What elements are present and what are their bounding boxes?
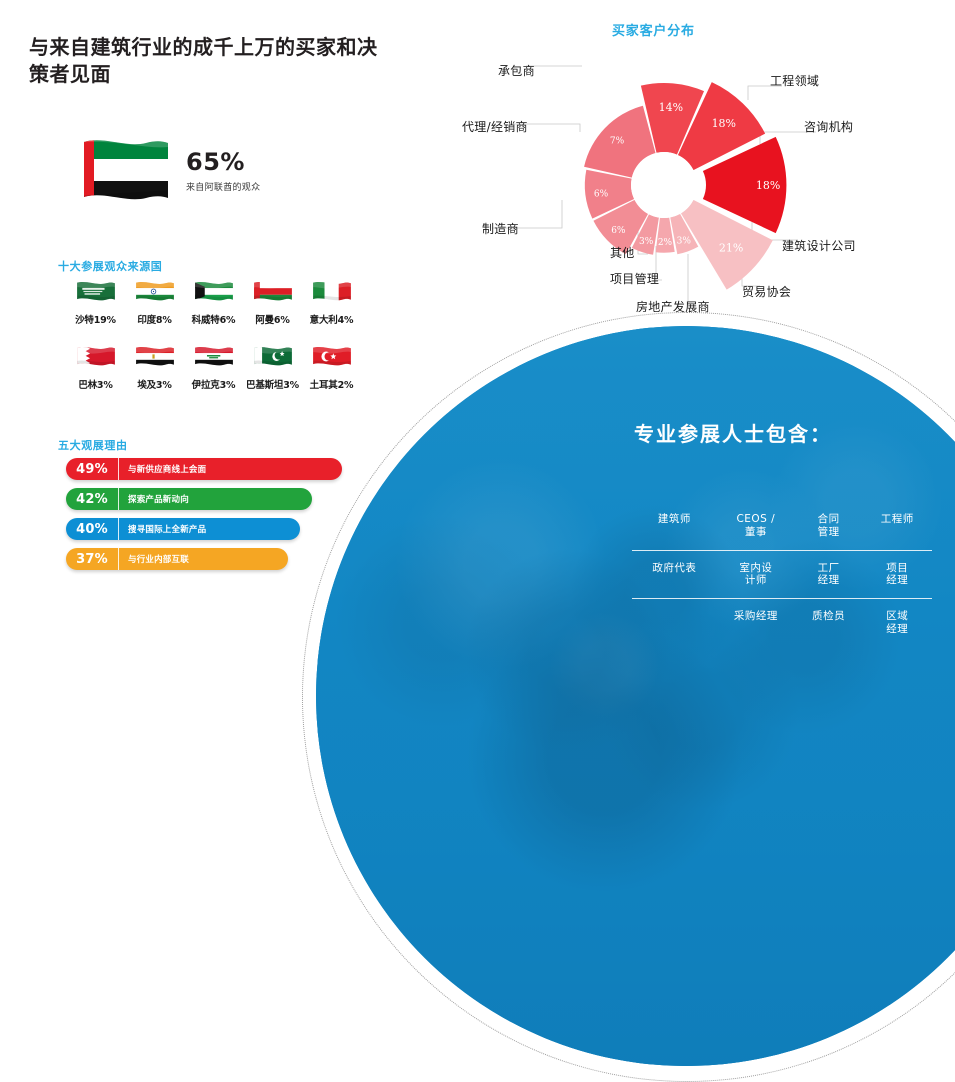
- rose-slice-value: 3%: [639, 237, 654, 247]
- buyer-distribution-chart: 14%18%18%21%3%2%3%6%6%7% 承包商代理/经销商制造商其他项…: [430, 40, 955, 330]
- role-cell: 质检员: [795, 599, 863, 647]
- country-label: 意大利4%: [302, 312, 361, 326]
- role-cell-empty: [632, 599, 717, 647]
- oman-flag-icon: [249, 275, 297, 308]
- country-item-伊拉克: 伊拉克3%: [184, 340, 243, 391]
- rose-slice-value: 3%: [677, 236, 692, 246]
- reasons-section-title: 五大观展理由: [58, 437, 128, 453]
- rose-label-contractor: 承包商: [498, 62, 535, 79]
- role-cell: 室内设计师: [717, 550, 795, 599]
- donut-hole: [631, 152, 697, 218]
- rose-slice-value: 21%: [719, 242, 743, 255]
- uae-percent: 65%: [186, 148, 245, 176]
- reason-label: 搜寻国际上全新产品: [119, 523, 206, 535]
- rose-label-manufacturer: 制造商: [482, 220, 519, 237]
- rose-slice-value: 2%: [658, 238, 673, 248]
- country-item-印度: 印度8%: [125, 275, 184, 326]
- rose-slice-value: 6%: [611, 226, 626, 236]
- bahrain-flag-icon: [72, 340, 120, 373]
- chart-title: 买家客户分布: [612, 20, 695, 39]
- role-cell: CEOS /董事: [717, 502, 795, 550]
- country-label: 阿曼6%: [243, 312, 302, 326]
- rose-label-engineering: 工程领域: [770, 72, 819, 89]
- reason-bar-3: 40%搜寻国际上全新产品: [66, 518, 300, 540]
- rose-slice-value: 14%: [659, 101, 683, 114]
- country-label: 印度8%: [125, 312, 184, 326]
- roles-row: 建筑师CEOS /董事合同管理工程师: [632, 502, 932, 550]
- rose-slice-value: 6%: [594, 190, 609, 200]
- country-item-巴基斯坦: 巴基斯坦3%: [243, 340, 302, 391]
- country-item-巴林: 巴林3%: [66, 340, 125, 391]
- pakistan-flag-icon: [249, 340, 297, 373]
- page-title: 与来自建筑行业的成千上万的买家和决策者见面: [29, 34, 379, 88]
- reason-bar-4: 37%与行业内部互联: [66, 548, 288, 570]
- reason-label: 探索产品新动向: [119, 493, 189, 505]
- role-cell: 政府代表: [632, 550, 717, 599]
- role-cell: 区域经理: [862, 599, 932, 647]
- italy-flag-icon: [308, 275, 356, 308]
- country-label: 科威特6%: [184, 312, 243, 326]
- role-cell: 工厂经理: [795, 550, 863, 599]
- country-item-意大利: 意大利4%: [302, 275, 361, 326]
- uae-caption: 来自阿联酋的观众: [186, 180, 260, 193]
- role-cell: 建筑师: [632, 502, 717, 550]
- rose-label-others: 其他: [610, 244, 635, 261]
- reasons-bar-chart: 49%与新供应商线上会面42%探索产品新动向40%搜寻国际上全新产品37%与行业…: [66, 458, 356, 578]
- egypt-flag-icon: [131, 340, 179, 373]
- rose-chart-svg: 14%18%18%21%3%2%3%6%6%7%: [430, 40, 955, 330]
- reason-label: 与新供应商线上会面: [119, 463, 206, 475]
- country-label: 巴林3%: [66, 377, 125, 391]
- reason-percent: 42%: [66, 492, 118, 507]
- uae-stat-block: 65% 来自阿联酋的观众: [70, 138, 340, 210]
- rose-slice-value: 18%: [712, 117, 736, 130]
- country-label: 沙特19%: [66, 312, 125, 326]
- country-item-科威特: 科威特6%: [184, 275, 243, 326]
- role-cell: 采购经理: [717, 599, 795, 647]
- role-cell: 合同管理: [795, 502, 863, 550]
- reason-percent: 40%: [66, 522, 118, 537]
- country-item-沙特: 沙特19%: [66, 275, 125, 326]
- country-label: 巴基斯坦3%: [243, 377, 302, 391]
- country-item-阿曼: 阿曼6%: [243, 275, 302, 326]
- rose-slice-value: 18%: [756, 179, 780, 192]
- countries-section-title: 十大参展观众来源国: [58, 258, 162, 274]
- rose-label-trade-assoc: 贸易协会: [742, 283, 791, 300]
- reason-bar-1: 49%与新供应商线上会面: [66, 458, 342, 480]
- rose-label-consultancy: 咨询机构: [804, 118, 853, 135]
- rose-label-project-mgmt: 项目管理: [610, 270, 659, 287]
- iraq-flag-icon: [190, 340, 238, 373]
- flag-row: 沙特19%印度8%科威特6%阿曼6%意大利4%: [66, 275, 366, 326]
- roles-table: 建筑师CEOS /董事合同管理工程师政府代表室内设计师工厂经理项目经理采购经理质…: [632, 502, 932, 647]
- role-cell: 项目经理: [862, 550, 932, 599]
- rose-label-agent-dealer: 代理/经销商: [462, 118, 528, 135]
- india-flag-icon: [131, 275, 179, 308]
- kuwait-flag-icon: [190, 275, 238, 308]
- roles-row: 政府代表室内设计师工厂经理项目经理: [632, 550, 932, 599]
- rose-label-arch-design: 建筑设计公司: [782, 237, 856, 254]
- leader-line: [688, 254, 692, 302]
- country-label: 埃及3%: [125, 377, 184, 391]
- reason-label: 与行业内部互联: [119, 553, 189, 565]
- professional-roles-panel: 专业参展人士包含： 建筑师CEOS /董事合同管理工程师政府代表室内设计师工厂经…: [316, 405, 955, 671]
- country-item-埃及: 埃及3%: [125, 340, 184, 391]
- roles-row: 采购经理质检员区域经理: [632, 599, 932, 647]
- saudi-arabia-flag-icon: [72, 275, 120, 308]
- reason-bar-2: 42%探索产品新动向: [66, 488, 312, 510]
- role-cell: 工程师: [862, 502, 932, 550]
- uae-flag-icon: [70, 138, 174, 204]
- roles-heading: 专业参展人士包含：: [634, 418, 832, 447]
- reason-percent: 37%: [66, 552, 118, 567]
- country-label: 伊拉克3%: [184, 377, 243, 391]
- poster-root: 与来自建筑行业的成千上万的买家和决策者见面 65% 来自阿联酋的观众 十大参展观…: [0, 0, 955, 671]
- reason-percent: 49%: [66, 462, 118, 477]
- rose-slice-value: 7%: [610, 137, 625, 147]
- roles-grid: 建筑师CEOS /董事合同管理工程师政府代表室内设计师工厂经理项目经理采购经理质…: [632, 502, 932, 647]
